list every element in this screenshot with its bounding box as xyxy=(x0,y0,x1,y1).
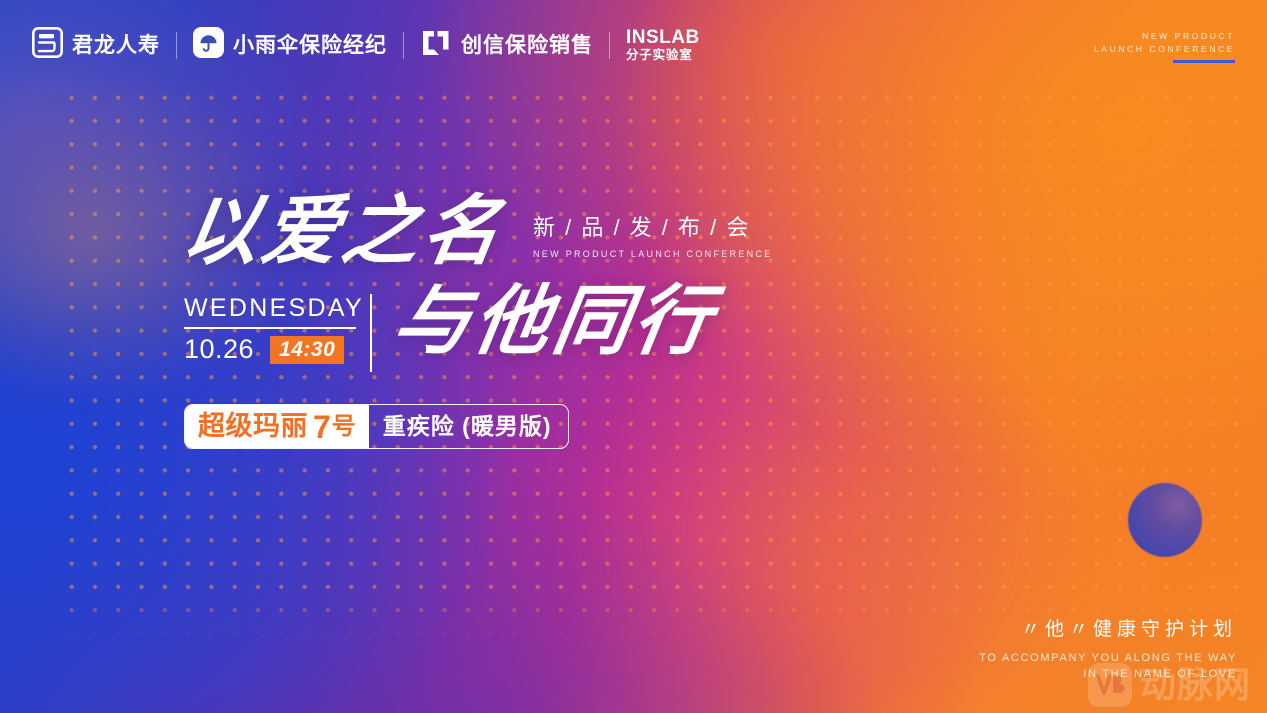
headline-line-1: 以爱之名 xyxy=(177,196,508,268)
product-type-label: 重疾险 (暖男版) xyxy=(383,415,552,438)
logo-separator xyxy=(609,32,610,59)
event-day: 10.26 xyxy=(184,336,254,363)
product-badge: 超级玛丽 7 号 重疾险 (暖男版) xyxy=(184,404,569,449)
logo-xiaoyusan-label: 小雨伞保险经纪 xyxy=(233,35,387,56)
logo-inslab-label: INSLAB xyxy=(626,28,700,47)
logo-inslab-sublabel: 分子实验室 xyxy=(626,49,700,62)
logo-junlong-label: 君龙人寿 xyxy=(72,35,160,56)
vertical-divider xyxy=(370,294,372,372)
umbrella-icon xyxy=(193,27,224,63)
logo-separator xyxy=(403,32,404,59)
partner-logo-bar: 君龙人寿 小雨伞保险经纪 创信保险销售 xyxy=(32,25,700,65)
logo-junlong-life: 君龙人寿 xyxy=(32,27,160,63)
headline-subtitle-block: 新 / 品 / 发 / 布 / 会 NEW PRODUCT LAUNCH CON… xyxy=(533,210,773,268)
product-name-prefix: 超级玛丽 xyxy=(198,413,308,440)
headline-subtitle-en: NEW PRODUCT LAUNCH CONFERENCE xyxy=(533,249,773,259)
logo-xiaoyusan: 小雨伞保险经纪 xyxy=(193,27,387,63)
chuangxin-mark-icon xyxy=(420,27,452,63)
product-type-block: 重疾险 (暖男版) xyxy=(369,405,568,448)
logo-inslab: INSLAB 分子实验室 xyxy=(626,28,700,61)
event-date-block: WEDNESDAY 10.26 14:30 xyxy=(184,292,356,364)
date-divider xyxy=(184,327,356,329)
product-name-suffix: 号 xyxy=(332,415,356,439)
date-bottom-row: 10.26 14:30 xyxy=(184,336,356,364)
headline-row-2: WEDNESDAY 10.26 14:30 与他同行 xyxy=(184,292,714,372)
headline-subtitle-cn: 新 / 品 / 发 / 布 / 会 xyxy=(533,210,773,242)
headline-row-1: 以爱之名 新 / 品 / 发 / 布 / 会 NEW PRODUCT LAUNC… xyxy=(183,196,773,268)
product-name-block: 超级玛丽 7 号 xyxy=(185,405,369,448)
eyebrow-underline xyxy=(1173,60,1235,63)
logo-chuangxin: 创信保险销售 xyxy=(420,27,593,63)
watermark-label: 动脉网 xyxy=(1140,667,1251,703)
logo-chuangxin-label: 创信保险销售 xyxy=(461,35,593,56)
eyebrow-block: NEW PRODUCT LAUNCH CONFERENCE xyxy=(1094,30,1235,63)
vb-logo-icon xyxy=(1088,663,1132,707)
headline-line-2: 与他同行 xyxy=(389,286,720,358)
logo-separator xyxy=(176,32,177,59)
slogan-cn: 〃他〃健康守护计划 xyxy=(979,618,1237,643)
product-name-number: 7 xyxy=(313,411,331,443)
eyebrow-line-1: NEW PRODUCT xyxy=(1094,30,1235,43)
event-time-badge: 14:30 xyxy=(270,336,344,364)
junlong-mark-icon xyxy=(32,27,63,63)
decorative-sphere xyxy=(1128,483,1202,557)
promo-banner: 君龙人寿 小雨伞保险经纪 创信保险销售 xyxy=(0,0,1267,713)
eyebrow-line-2: LAUNCH CONFERENCE xyxy=(1094,43,1235,56)
watermark: 动脉网 xyxy=(1088,663,1251,707)
event-weekday: WEDNESDAY xyxy=(184,296,356,327)
